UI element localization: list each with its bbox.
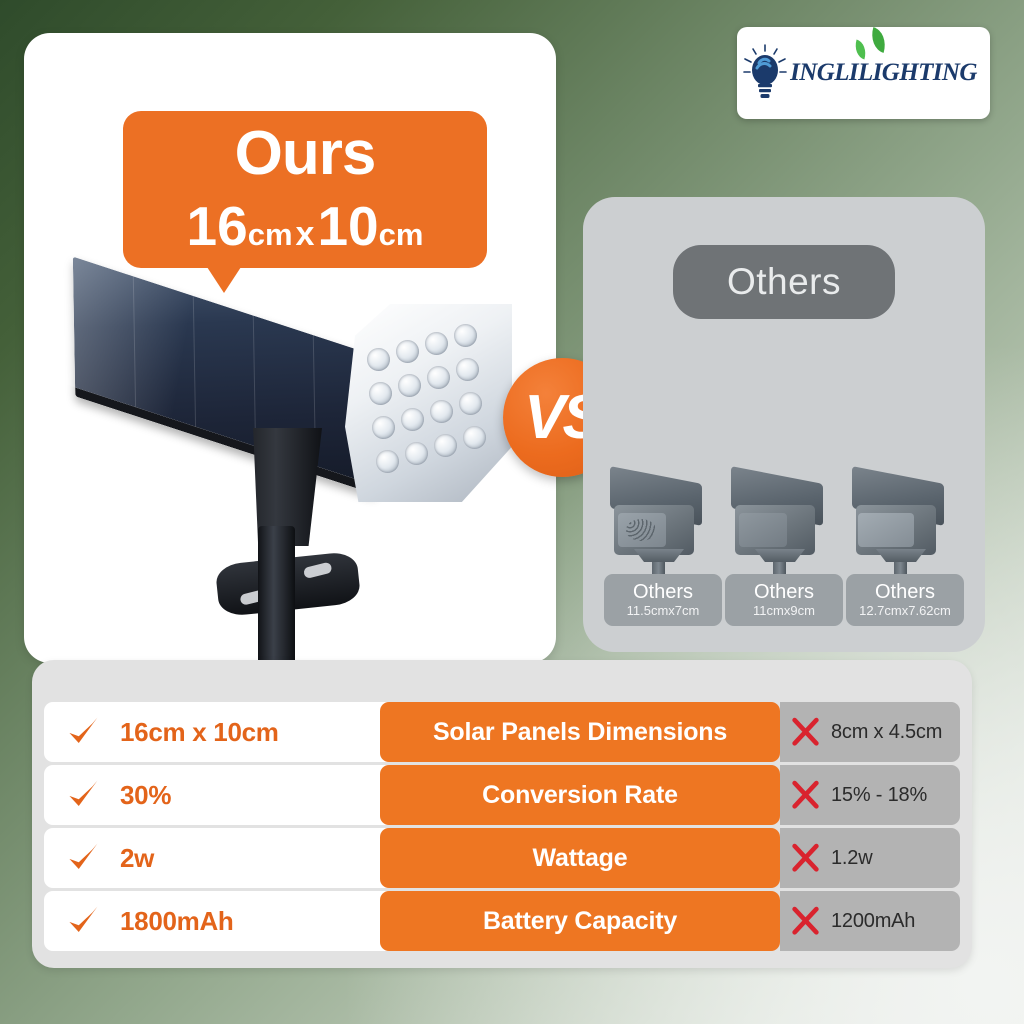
others-lamp-icon xyxy=(604,467,722,572)
brand-logo-text: INGLILIGHTING xyxy=(790,59,977,87)
others-label: Others 12.7cmx7.62cm xyxy=(846,574,964,626)
cross-icon xyxy=(790,717,821,748)
ours-value: 2w xyxy=(120,843,154,874)
cross-icon xyxy=(790,780,821,811)
ours-size-unit1: cm xyxy=(248,217,293,252)
feature-label: Solar Panels Dimensions xyxy=(380,702,780,762)
other-value: 15% - 18% xyxy=(831,784,927,807)
ours-size-num2: 10 xyxy=(317,195,378,257)
cross-icon xyxy=(790,906,821,937)
ours-value: 30% xyxy=(120,780,171,811)
solar-panel-icon xyxy=(73,257,375,495)
feature-text: Conversion Rate xyxy=(482,781,678,810)
ours-value: 1800mAh xyxy=(120,906,234,937)
others-lamp-icon xyxy=(725,467,843,572)
feature-text: Solar Panels Dimensions xyxy=(433,718,727,747)
others-label: Others 11.5cmx7cm xyxy=(604,574,722,626)
feature-text: Battery Capacity xyxy=(483,907,677,936)
lightbulb-icon xyxy=(742,43,788,103)
other-cell: 1.2w xyxy=(780,828,960,888)
leaf-icon-small xyxy=(852,40,869,60)
others-card: Others Others 11.5cmx7cm Others 11cmx9cm xyxy=(583,197,985,652)
other-value: 1200mAh xyxy=(831,910,915,933)
feature-text: Wattage xyxy=(533,844,628,873)
brand-logo: INGLILIGHTING xyxy=(742,43,977,103)
ours-badge-title: Ours xyxy=(123,123,487,185)
others-lamp-icon xyxy=(846,467,964,572)
ours-size-unit2: cm xyxy=(379,217,424,252)
others-heading-text: Others xyxy=(727,261,841,303)
cross-icon xyxy=(790,843,821,874)
others-label-title: Others xyxy=(875,582,935,603)
others-label: Others 11cmx9cm xyxy=(725,574,843,626)
leaf-icon xyxy=(867,27,889,53)
other-value: 1.2w xyxy=(831,847,872,870)
feature-label: Wattage xyxy=(380,828,780,888)
table-row: 30% Conversion Rate 15% - 18% xyxy=(44,765,960,825)
table-row: 1800mAh Battery Capacity 1200mAh xyxy=(44,891,960,951)
infographic-canvas: INGLILIGHTING Ours 16cmx10cm xyxy=(0,0,1024,1024)
others-item-2: Others 11cmx9cm xyxy=(725,467,843,626)
feature-label: Battery Capacity xyxy=(380,891,780,951)
ours-card: Ours 16cmx10cm xyxy=(24,33,556,663)
others-label-size: 11.5cmx7cm xyxy=(627,603,700,619)
others-label-title: Others xyxy=(754,582,814,603)
ours-size-x: x xyxy=(293,215,318,253)
led-lens-head-icon xyxy=(345,304,512,502)
others-label-size: 11cmx9cm xyxy=(753,603,815,619)
others-label-size: 12.7cmx7.62cm xyxy=(859,603,951,619)
others-item-1: Others 11.5cmx7cm xyxy=(604,467,722,626)
ours-badge: Ours 16cmx10cm xyxy=(123,111,487,268)
table-row: 16cm x 10cm Solar Panels Dimensions 8cm … xyxy=(44,702,960,762)
feature-label: Conversion Rate xyxy=(380,765,780,825)
other-cell: 1200mAh xyxy=(780,891,960,951)
solar-spotlight-product xyxy=(62,288,532,688)
other-value: 8cm x 4.5cm xyxy=(831,721,942,744)
others-label-title: Others xyxy=(633,582,693,603)
check-icon xyxy=(66,715,100,749)
check-icon xyxy=(66,904,100,938)
check-icon xyxy=(66,841,100,875)
table-row: 2w Wattage 1.2w xyxy=(44,828,960,888)
brand-logo-card: INGLILIGHTING xyxy=(737,27,990,119)
ours-size-num1: 16 xyxy=(187,195,248,257)
others-item-3: Others 12.7cmx7.62cm xyxy=(846,467,964,626)
ours-badge-size: 16cmx10cm xyxy=(123,199,487,254)
check-icon xyxy=(66,778,100,812)
other-cell: 8cm x 4.5cm xyxy=(780,702,960,762)
others-heading-pill: Others xyxy=(673,245,895,319)
other-cell: 15% - 18% xyxy=(780,765,960,825)
comparison-table: 16cm x 10cm Solar Panels Dimensions 8cm … xyxy=(32,660,972,968)
ours-value: 16cm x 10cm xyxy=(120,717,279,748)
